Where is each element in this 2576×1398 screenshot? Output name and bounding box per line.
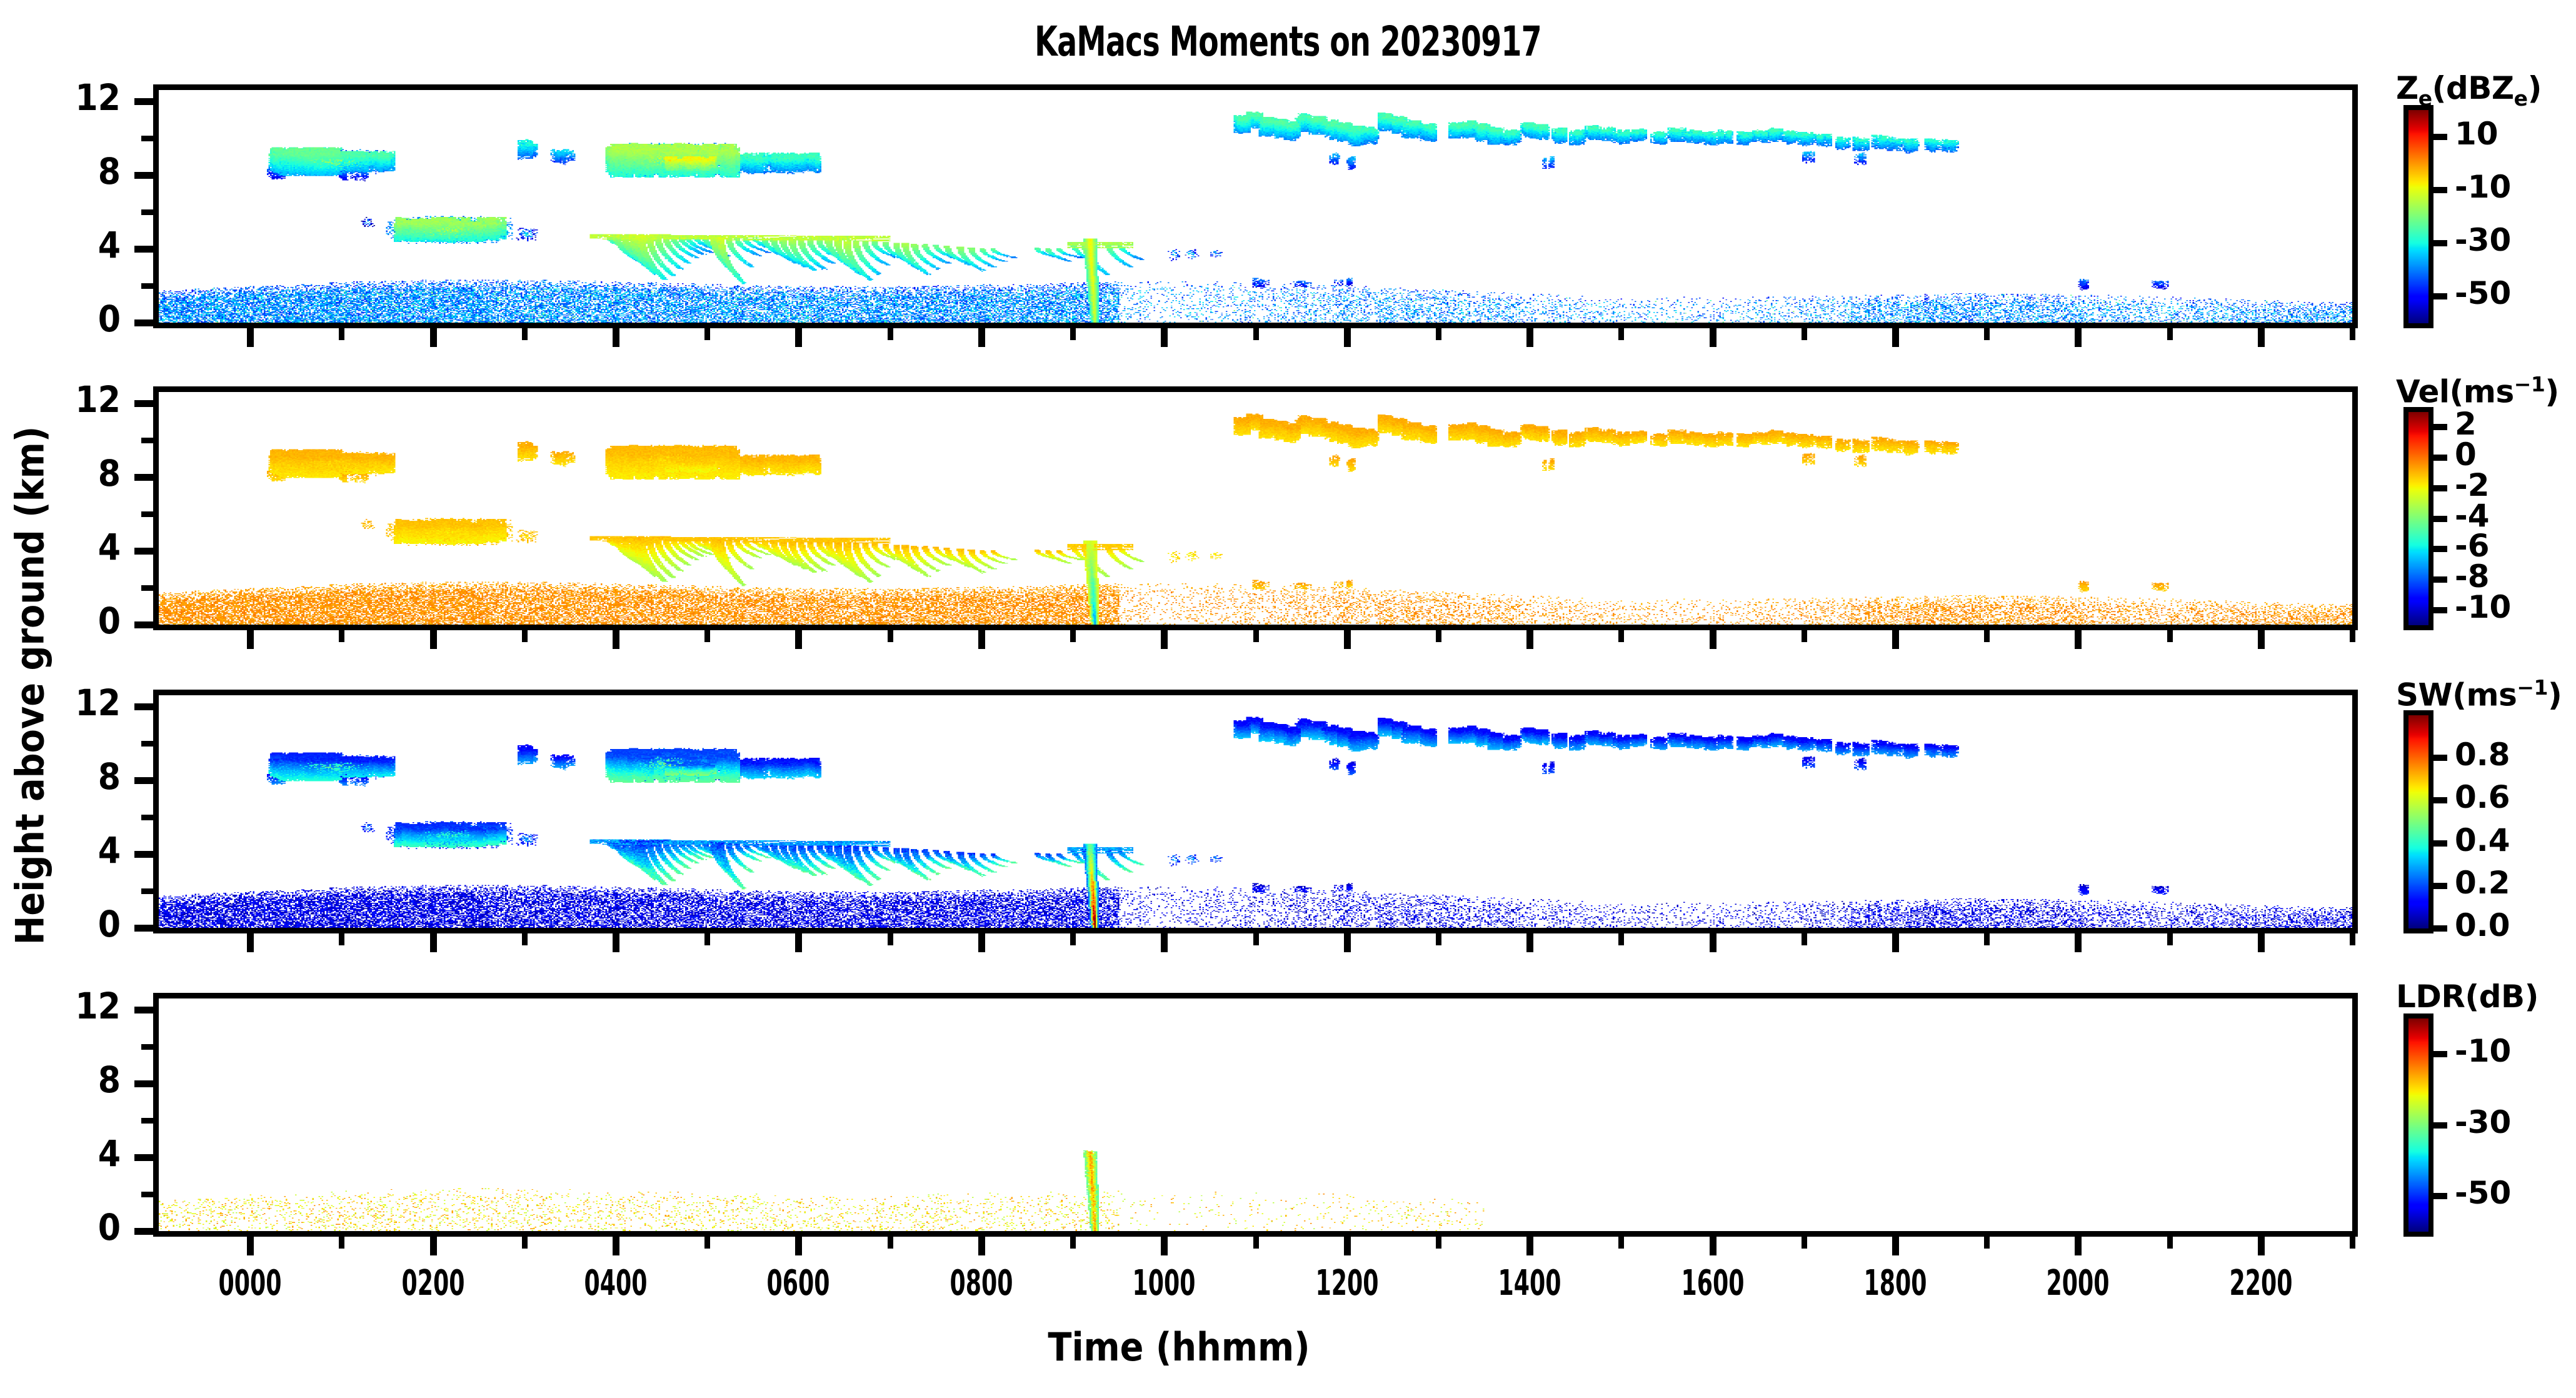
- y-tick-label: 4: [46, 526, 121, 568]
- panel-ldr: [153, 993, 2358, 1237]
- colorbar-tick-ldr: [2431, 1051, 2447, 1057]
- colorbar-tick-velocity: [2431, 424, 2447, 430]
- x-tick-major: [795, 328, 802, 347]
- panel-spectral-width: [153, 690, 2358, 933]
- x-tick-minor: [2350, 630, 2355, 642]
- x-tick-minor: [1253, 630, 1259, 642]
- x-tick-minor: [1070, 933, 1076, 945]
- y-tick-major: [134, 474, 153, 481]
- x-tick-major: [1526, 933, 1533, 952]
- y-tick-major: [134, 1080, 153, 1087]
- x-tick-label: 1000: [1110, 1263, 1218, 1304]
- colorbar-tick-spectral-width: [2431, 755, 2447, 761]
- x-tick-minor: [2167, 933, 2173, 945]
- x-tick-major: [2258, 328, 2265, 347]
- x-tick-label: 1200: [1293, 1263, 1401, 1304]
- x-tick-minor: [1984, 1237, 1990, 1249]
- x-tick-minor: [522, 328, 528, 340]
- y-tick-minor: [141, 1118, 153, 1124]
- colorbar-tick-spectral-width: [2431, 925, 2447, 932]
- x-tick-minor: [1618, 1237, 1624, 1249]
- colorbar-ldr: [2403, 1013, 2433, 1237]
- y-tick-label: 12: [46, 985, 121, 1027]
- colorbar-tick-spectral-width: [2431, 883, 2447, 889]
- plot-canvas-spectral-width: [159, 695, 2352, 928]
- y-tick-major: [134, 172, 153, 179]
- x-tick-minor: [704, 1237, 710, 1249]
- x-tick-label: 1600: [1658, 1263, 1767, 1304]
- x-tick-major: [1892, 328, 1899, 347]
- x-tick-minor: [1436, 328, 1441, 340]
- x-tick-minor: [522, 1237, 528, 1249]
- x-tick-minor: [1070, 1237, 1076, 1249]
- x-tick-major: [795, 1237, 802, 1255]
- radar-moments-figure: KaMacs Moments on 20230917 Height above …: [0, 0, 2576, 1398]
- x-tick-major: [2075, 630, 2082, 649]
- colorbar-tick-ldr: [2431, 1122, 2447, 1129]
- y-tick-major: [134, 851, 153, 858]
- y-tick-major: [134, 1007, 153, 1013]
- x-tick-minor: [1984, 933, 1990, 945]
- x-tick-major: [613, 933, 619, 952]
- x-tick-major: [247, 933, 254, 952]
- colorbar-gradient-ldr: [2408, 1018, 2428, 1232]
- colorbar-title-reflectivity: Ze(dBZe): [2396, 70, 2542, 111]
- x-tick-label: 2200: [2207, 1263, 2315, 1304]
- x-tick-major: [613, 1237, 619, 1255]
- y-tick-minor: [141, 136, 153, 141]
- x-tick-major: [978, 1237, 985, 1255]
- colorbar-gradient-spectral-width: [2408, 715, 2428, 928]
- x-tick-major: [1710, 328, 1716, 347]
- x-tick-minor: [1802, 630, 1807, 642]
- x-tick-major: [247, 328, 254, 347]
- x-tick-minor: [1253, 933, 1259, 945]
- x-tick-major: [1344, 933, 1351, 952]
- y-tick-label: 12: [46, 76, 121, 119]
- y-tick-major: [134, 319, 153, 326]
- x-tick-minor: [888, 630, 893, 642]
- colorbar-tick-spectral-width: [2431, 797, 2447, 803]
- colorbar-velocity: [2403, 407, 2433, 630]
- x-tick-minor: [522, 630, 528, 642]
- x-axis-label: Time (hhmm): [0, 1324, 2358, 1370]
- colorbar-tick-label-velocity: -10: [2455, 589, 2511, 625]
- x-tick-major: [2075, 933, 2082, 952]
- x-tick-minor: [2167, 328, 2173, 340]
- x-tick-minor: [1436, 1237, 1441, 1249]
- y-tick-label: 4: [46, 1132, 121, 1175]
- x-tick-minor: [2167, 1237, 2173, 1249]
- colorbar-tick-label-reflectivity: -30: [2455, 222, 2511, 258]
- y-tick-label: 8: [46, 1059, 121, 1101]
- x-tick-minor: [1070, 328, 1076, 340]
- x-tick-minor: [339, 933, 344, 945]
- colorbar-title-spectral-width: SW(ms−1): [2396, 675, 2562, 713]
- y-tick-label: 8: [46, 150, 121, 193]
- x-tick-major: [795, 630, 802, 649]
- x-tick-label: 1400: [1476, 1263, 1584, 1304]
- panel-reflectivity: [153, 84, 2358, 328]
- colorbar-gradient-velocity: [2408, 412, 2428, 625]
- y-tick-minor: [141, 1192, 153, 1197]
- x-tick-minor: [2350, 933, 2355, 945]
- colorbar-tick-reflectivity: [2431, 187, 2447, 193]
- x-tick-major: [430, 933, 437, 952]
- colorbar-tick-label-ldr: -30: [2455, 1104, 2511, 1140]
- x-tick-major: [613, 630, 619, 649]
- y-tick-minor: [141, 511, 153, 517]
- x-tick-minor: [339, 1237, 344, 1249]
- colorbar-tick-reflectivity: [2431, 240, 2447, 246]
- y-tick-minor: [141, 888, 153, 894]
- y-tick-major: [134, 246, 153, 253]
- plot-canvas-velocity: [159, 392, 2352, 625]
- x-tick-major: [247, 1237, 254, 1255]
- y-tick-major: [134, 98, 153, 105]
- x-tick-major: [795, 933, 802, 952]
- plot-canvas-ldr: [159, 998, 2352, 1231]
- x-tick-minor: [1802, 1237, 1807, 1249]
- x-tick-major: [978, 328, 985, 347]
- x-tick-label: 0000: [196, 1263, 304, 1304]
- colorbar-tick-label-ldr: -50: [2455, 1175, 2511, 1211]
- y-tick-major: [134, 621, 153, 628]
- x-tick-major: [1344, 328, 1351, 347]
- x-tick-label: 2000: [2024, 1263, 2132, 1304]
- colorbar-tick-label-spectral-width: 0.6: [2455, 779, 2510, 815]
- x-tick-minor: [2350, 1237, 2355, 1249]
- y-tick-label: 0: [46, 298, 121, 340]
- x-tick-minor: [339, 328, 344, 340]
- colorbar-tick-label-reflectivity: -50: [2455, 275, 2511, 311]
- x-tick-label: 0200: [379, 1263, 487, 1304]
- x-tick-major: [1710, 630, 1716, 649]
- x-tick-major: [430, 1237, 437, 1255]
- x-tick-label: 0800: [927, 1263, 1035, 1304]
- x-tick-minor: [1618, 630, 1624, 642]
- x-tick-major: [1892, 1237, 1899, 1255]
- x-tick-minor: [522, 933, 528, 945]
- y-tick-minor: [141, 209, 153, 215]
- colorbar-gradient-reflectivity: [2408, 110, 2428, 323]
- x-tick-major: [1526, 328, 1533, 347]
- x-tick-major: [2075, 328, 2082, 347]
- y-tick-minor: [141, 815, 153, 820]
- x-tick-minor: [1802, 328, 1807, 340]
- colorbar-tick-label-spectral-width: 0.0: [2455, 907, 2510, 943]
- x-tick-label: 0400: [562, 1263, 670, 1304]
- x-tick-minor: [1618, 933, 1624, 945]
- colorbar-tick-label-spectral-width: 0.2: [2455, 865, 2510, 901]
- colorbar-title-velocity: Vel(ms−1): [2396, 372, 2559, 410]
- x-tick-major: [2075, 1237, 2082, 1255]
- x-tick-major: [1710, 1237, 1716, 1255]
- x-tick-major: [2258, 933, 2265, 952]
- x-tick-minor: [1253, 328, 1259, 340]
- y-tick-minor: [141, 438, 153, 443]
- x-tick-major: [247, 630, 254, 649]
- x-tick-label: 0600: [744, 1263, 853, 1304]
- y-tick-label: 4: [46, 224, 121, 266]
- x-tick-minor: [704, 933, 710, 945]
- colorbar-tick-reflectivity: [2431, 293, 2447, 299]
- y-tick-major: [134, 777, 153, 784]
- x-tick-major: [1161, 328, 1168, 347]
- x-tick-minor: [1070, 630, 1076, 642]
- x-tick-label: 1800: [1842, 1263, 1950, 1304]
- colorbar-spectral-width: [2403, 710, 2433, 933]
- x-tick-minor: [888, 328, 893, 340]
- x-tick-major: [978, 933, 985, 952]
- y-tick-major: [134, 1228, 153, 1235]
- x-tick-minor: [1253, 1237, 1259, 1249]
- colorbar-tick-label-spectral-width: 0.8: [2455, 737, 2510, 773]
- y-tick-major: [134, 400, 153, 407]
- plot-canvas-reflectivity: [159, 90, 2352, 323]
- x-tick-major: [2258, 1237, 2265, 1255]
- y-tick-label: 12: [46, 681, 121, 724]
- x-tick-minor: [888, 1237, 893, 1249]
- colorbar-tick-reflectivity: [2431, 134, 2447, 140]
- colorbar-tick-ldr: [2431, 1193, 2447, 1199]
- y-tick-minor: [141, 1044, 153, 1050]
- x-tick-minor: [704, 630, 710, 642]
- x-tick-major: [1161, 933, 1168, 952]
- y-tick-minor: [141, 585, 153, 591]
- colorbar-tick-label-reflectivity: -10: [2455, 169, 2511, 205]
- x-tick-major: [1526, 630, 1533, 649]
- x-tick-major: [1344, 630, 1351, 649]
- x-tick-major: [1344, 1237, 1351, 1255]
- panel-velocity: [153, 386, 2358, 630]
- y-tick-label: 8: [46, 755, 121, 798]
- y-tick-minor: [141, 283, 153, 289]
- x-tick-minor: [1802, 933, 1807, 945]
- x-tick-minor: [888, 933, 893, 945]
- colorbar-tick-velocity: [2431, 576, 2447, 583]
- colorbar-tick-velocity: [2431, 516, 2447, 522]
- y-tick-label: 0: [46, 903, 121, 945]
- page-title: KaMacs Moments on 20230917: [258, 18, 2318, 66]
- y-tick-major: [134, 1154, 153, 1161]
- x-tick-major: [430, 630, 437, 649]
- x-tick-minor: [1618, 328, 1624, 340]
- colorbar-tick-velocity: [2431, 607, 2447, 613]
- y-tick-label: 8: [46, 452, 121, 495]
- x-tick-minor: [1984, 328, 1990, 340]
- y-tick-major: [134, 925, 153, 932]
- x-tick-minor: [2167, 630, 2173, 642]
- colorbar-reflectivity: [2403, 105, 2433, 328]
- x-tick-major: [2258, 630, 2265, 649]
- y-tick-label: 0: [46, 1206, 121, 1249]
- y-tick-label: 12: [46, 378, 121, 421]
- y-tick-major: [134, 548, 153, 555]
- x-tick-major: [1161, 630, 1168, 649]
- colorbar-tick-velocity: [2431, 485, 2447, 491]
- y-tick-major: [134, 703, 153, 710]
- y-tick-label: 4: [46, 829, 121, 872]
- colorbar-tick-label-reflectivity: 10: [2455, 116, 2498, 152]
- x-tick-minor: [1984, 630, 1990, 642]
- x-tick-major: [1892, 630, 1899, 649]
- y-tick-minor: [141, 741, 153, 747]
- x-tick-minor: [1436, 933, 1441, 945]
- colorbar-tick-label-ldr: -10: [2455, 1033, 2511, 1069]
- colorbar-title-ldr: LDR(dB): [2396, 978, 2538, 1015]
- x-tick-major: [1526, 1237, 1533, 1255]
- x-tick-major: [430, 328, 437, 347]
- x-tick-major: [613, 328, 619, 347]
- colorbar-tick-velocity: [2431, 546, 2447, 552]
- colorbar-tick-spectral-width: [2431, 840, 2447, 847]
- colorbar-tick-label-spectral-width: 0.4: [2455, 822, 2510, 858]
- y-tick-label: 0: [46, 600, 121, 642]
- x-tick-major: [1710, 933, 1716, 952]
- x-tick-minor: [339, 630, 344, 642]
- x-tick-minor: [704, 328, 710, 340]
- colorbar-tick-velocity: [2431, 455, 2447, 461]
- x-tick-major: [978, 630, 985, 649]
- x-tick-minor: [1436, 630, 1441, 642]
- x-tick-major: [1892, 933, 1899, 952]
- x-tick-minor: [2350, 328, 2355, 340]
- x-tick-major: [1161, 1237, 1168, 1255]
